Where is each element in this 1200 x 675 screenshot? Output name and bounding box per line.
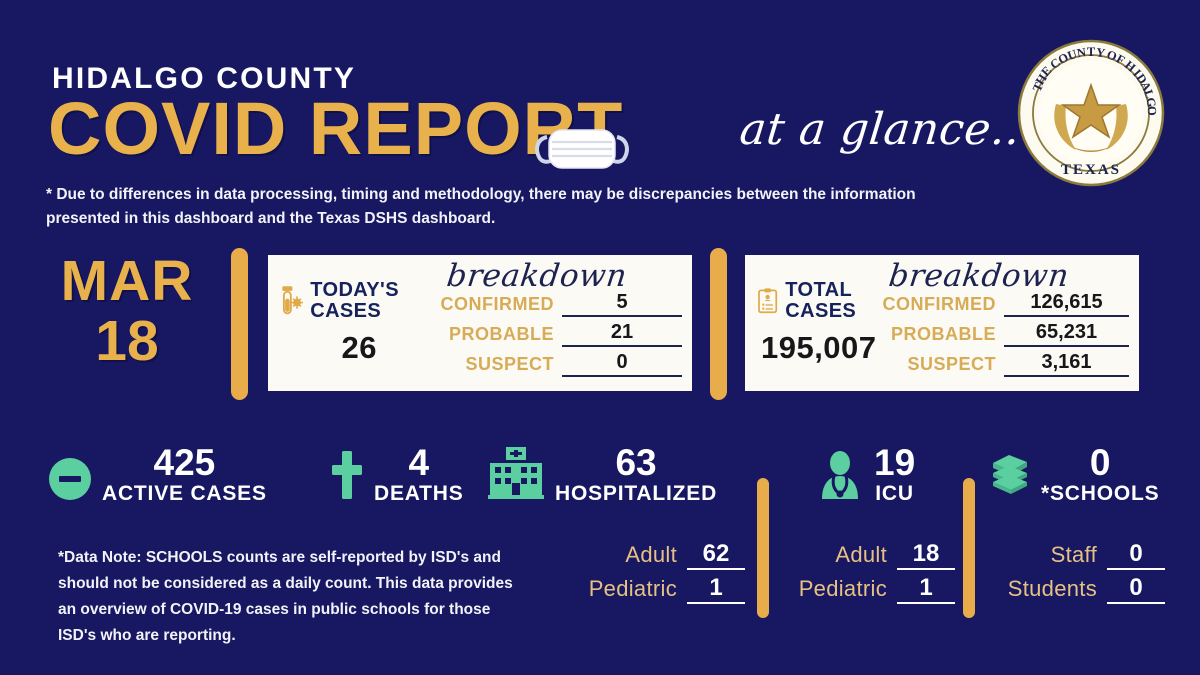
breakdown-label: Students	[1008, 576, 1097, 604]
stat-label: DEATHS	[374, 482, 464, 506]
breakdown-row: Pediatric 1	[780, 570, 955, 604]
report-date: MAR 18	[42, 252, 212, 372]
divider-bar	[757, 478, 769, 618]
stat-active-cases: 425 ACTIVE CASES	[48, 444, 267, 506]
breakdown-label: CONFIRMED	[883, 294, 997, 317]
clipboard-icon	[757, 281, 778, 321]
todays-cases-card: TODAY'S CASES 26 breakdown CONFIRMED 5 P…	[265, 252, 695, 394]
svg-text:TEXAS: TEXAS	[1061, 162, 1121, 178]
breakdown-value: 5	[562, 291, 682, 317]
todays-cases-summary: TODAY'S CASES 26	[268, 255, 439, 391]
hospitalized-breakdown: Adult 62 Pediatric 1	[560, 536, 745, 604]
total-cases-total: 195,007	[761, 330, 877, 366]
breakdown-script-label: breakdown	[886, 259, 1131, 293]
books-stack-icon	[987, 449, 1031, 506]
test-tube-virus-icon	[280, 281, 303, 321]
divider-bar	[963, 478, 975, 618]
breakdown-value: 3,161	[1004, 351, 1129, 377]
stat-number: 63	[615, 444, 656, 482]
breakdown-script-label: breakdown	[444, 259, 684, 293]
data-note-text: *Data Note: SCHOOLS counts are self-repo…	[58, 545, 528, 649]
stat-schools: 0 *SCHOOLS	[987, 444, 1159, 506]
infographic-root: HIDALGO COUNTY COVID REPORT at a glance.…	[0, 0, 1200, 675]
breakdown-row: SUSPECT 3,161	[883, 347, 1130, 377]
breakdown-label: SUSPECT	[907, 354, 996, 377]
breakdown-value: 1	[687, 574, 745, 604]
stat-label: HOSPITALIZED	[555, 482, 717, 506]
breakdown-row: PROBABLE 21	[441, 317, 683, 347]
stat-label: ACTIVE CASES	[102, 482, 267, 506]
stat-number: 0	[1090, 444, 1111, 482]
breakdown-label: CONFIRMED	[441, 294, 555, 317]
stat-deaths: 4 DEATHS	[330, 444, 464, 506]
breakdown-row: PROBABLE 65,231	[883, 317, 1130, 347]
breakdown-value: 21	[562, 321, 682, 347]
county-seal-star-icon: T H E C O U N T Y O F H I D A L G O TEXA…	[1016, 38, 1166, 188]
date-day: 18	[42, 310, 212, 372]
header: HIDALGO COUNTY COVID REPORT at a glance.…	[0, 0, 1200, 175]
face-mask-icon	[533, 117, 631, 179]
breakdown-value: 65,231	[1004, 321, 1129, 347]
svg-text:O: O	[1145, 106, 1159, 116]
breakdown-label: Adult	[625, 542, 677, 570]
breakdown-row: Adult 18	[780, 536, 955, 570]
breakdown-label: Adult	[835, 542, 887, 570]
breakdown-row: Pediatric 1	[560, 570, 745, 604]
breakdown-value: 62	[687, 540, 745, 570]
divider-bar	[231, 248, 248, 400]
cross-icon	[330, 449, 364, 506]
total-breakdown: breakdown CONFIRMED 126,615 PROBABLE 65,…	[881, 255, 1140, 391]
todays-cases-label: TODAY'S CASES	[310, 280, 438, 322]
total-cases-label: TOTAL CASES	[785, 280, 880, 322]
todays-breakdown: breakdown CONFIRMED 5 PROBABLE 21 SUSPEC…	[439, 255, 693, 391]
breakdown-label: PROBABLE	[891, 324, 996, 347]
breakdown-label: Staff	[1051, 542, 1097, 570]
stat-number: 4	[409, 444, 430, 482]
breakdown-label: PROBABLE	[449, 324, 554, 347]
icu-breakdown: Adult 18 Pediatric 1	[780, 536, 955, 604]
breakdown-row: SUSPECT 0	[441, 347, 683, 377]
breakdown-label: Pediatric	[799, 576, 887, 604]
total-cases-summary: TOTAL CASES 195,007	[745, 255, 881, 391]
breakdown-row: Students 0	[990, 570, 1165, 604]
subtitle-script: at a glance..	[737, 104, 1022, 155]
stat-number: 19	[874, 444, 915, 482]
stat-label: ICU	[875, 482, 914, 506]
stat-hospitalized: 63 HOSPITALIZED	[487, 444, 717, 506]
breakdown-value: 126,615	[1004, 291, 1129, 317]
breakdown-value: 0	[562, 351, 682, 377]
disclaimer-text: * Due to differences in data processing,…	[46, 183, 951, 231]
breakdown-label: SUSPECT	[465, 354, 554, 377]
todays-cases-total: 26	[342, 330, 377, 366]
hospital-icon	[487, 445, 545, 506]
stat-icu: 19 ICU	[816, 444, 915, 506]
breakdown-label: Pediatric	[589, 576, 677, 604]
breakdown-value: 0	[1107, 540, 1165, 570]
schools-breakdown: Staff 0 Students 0	[990, 536, 1165, 604]
minus-circle-icon	[48, 457, 92, 506]
breakdown-row: Adult 62	[560, 536, 745, 570]
stat-number: 425	[154, 444, 216, 482]
date-month: MAR	[42, 252, 212, 310]
breakdown-value: 0	[1107, 574, 1165, 604]
breakdown-value: 18	[897, 540, 955, 570]
breakdown-value: 1	[897, 574, 955, 604]
breakdown-row: Staff 0	[990, 536, 1165, 570]
total-cases-card: TOTAL CASES 195,007 breakdown CONFIRMED …	[742, 252, 1142, 394]
divider-bar	[710, 248, 727, 400]
stat-label: *SCHOOLS	[1041, 482, 1159, 506]
doctor-icon	[816, 449, 864, 506]
